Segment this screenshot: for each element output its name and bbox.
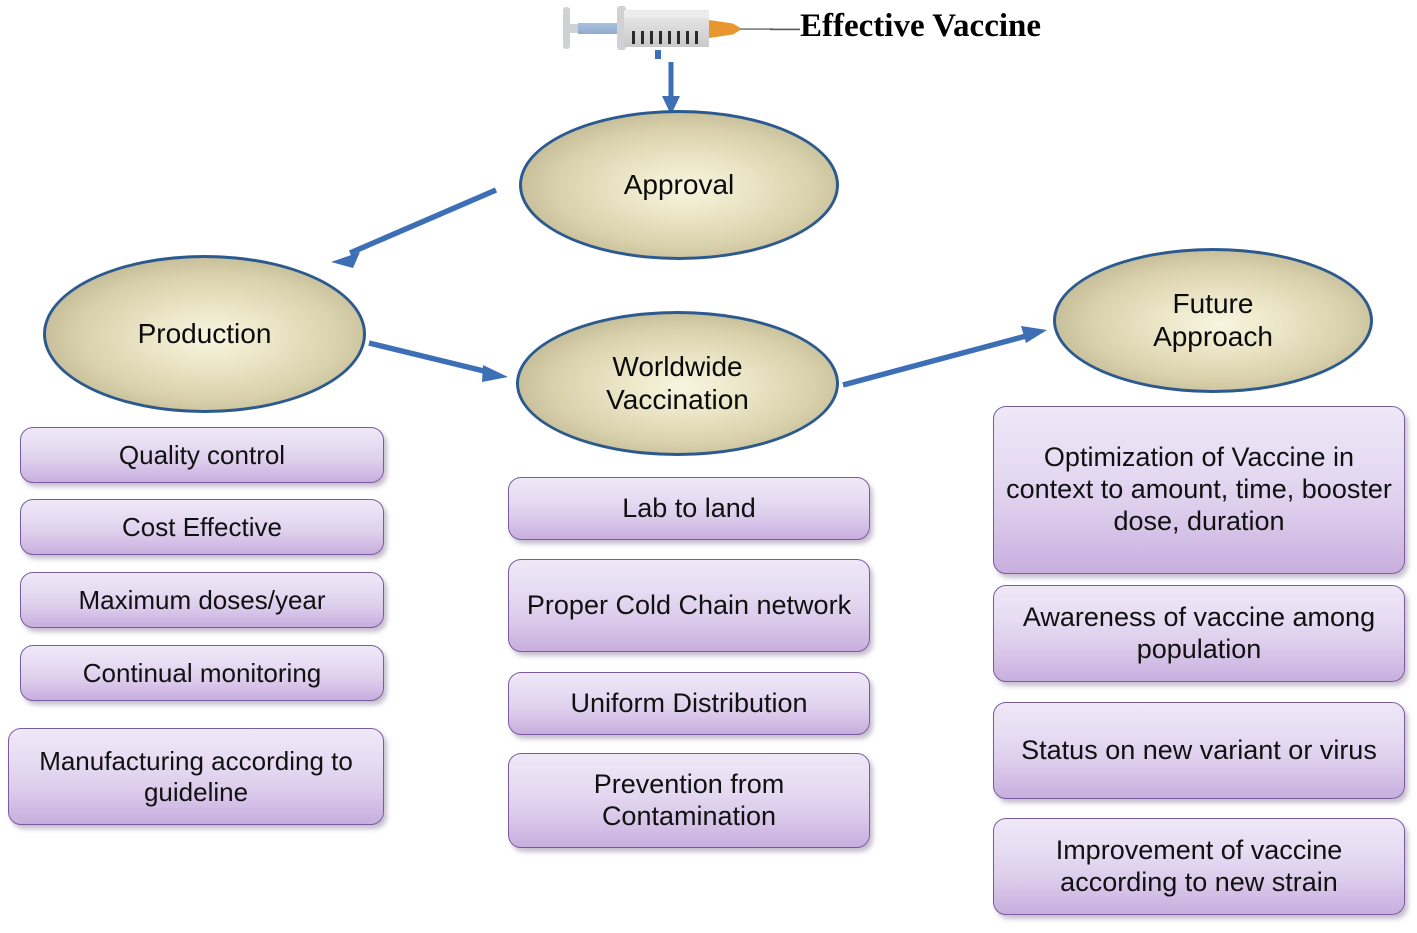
list-item[interactable]: Optimization of Vaccine in context to am…: [993, 406, 1405, 574]
page-title: Effective Vaccine: [800, 8, 1041, 45]
node-worldwide-vaccination-line1: Worldwide: [612, 351, 742, 382]
list-item[interactable]: Continual monitoring: [20, 645, 384, 701]
node-future-approach-line1: Future: [1173, 288, 1254, 319]
list-item-label: Cost Effective: [122, 512, 282, 543]
list-item[interactable]: Uniform Distribution: [508, 672, 870, 735]
list-item-label: Prevention from Contamination: [517, 769, 861, 833]
list-item[interactable]: Awareness of vaccine among population: [993, 585, 1405, 682]
list-item-label: Lab to land: [622, 493, 756, 525]
list-item-label: Maximum doses/year: [78, 585, 325, 616]
node-worldwide-vaccination-line2: Vaccination: [606, 384, 749, 415]
diagram-canvas: Effective Vaccine Approval Production Wo…: [0, 0, 1417, 933]
node-approval[interactable]: Approval: [519, 110, 839, 260]
node-future-approach-label: Future Approach: [1141, 288, 1285, 353]
list-item[interactable]: Maximum doses/year: [20, 572, 384, 628]
list-item[interactable]: Proper Cold Chain network: [508, 559, 870, 652]
list-item[interactable]: Cost Effective: [20, 499, 384, 555]
node-future-approach-line2: Approach: [1153, 321, 1273, 352]
node-approval-label: Approval: [612, 169, 747, 201]
list-item[interactable]: Quality control: [20, 427, 384, 483]
list-item[interactable]: Prevention from Contamination: [508, 753, 870, 848]
list-item-label: Improvement of vaccine according to new …: [1002, 835, 1396, 899]
arrow-syringe-to-approval: [662, 62, 680, 115]
node-future-approach[interactable]: Future Approach: [1053, 248, 1373, 393]
node-production-label: Production: [126, 318, 284, 350]
list-item-label: Proper Cold Chain network: [527, 590, 851, 622]
list-item-label: Quality control: [119, 440, 285, 471]
list-item-label: Optimization of Vaccine in context to am…: [1002, 442, 1396, 538]
arrow-production-to-worldwide-vaccination: [369, 343, 508, 382]
list-item-label: Continual monitoring: [83, 658, 321, 689]
list-item[interactable]: Status on new variant or virus: [993, 702, 1405, 799]
node-worldwide-vaccination[interactable]: Worldwide Vaccination: [516, 311, 839, 456]
node-worldwide-vaccination-label: Worldwide Vaccination: [594, 351, 761, 416]
list-item[interactable]: Manufacturing according to guideline: [8, 728, 384, 825]
list-item[interactable]: Lab to land: [508, 477, 870, 540]
list-item[interactable]: Improvement of vaccine according to new …: [993, 818, 1405, 915]
syringe-icon: [563, 6, 800, 59]
arrow-approval-to-production: [331, 190, 496, 268]
list-item-label: Status on new variant or virus: [1021, 735, 1377, 767]
arrow-worldwide-vaccination-to-future-approach: [843, 326, 1047, 385]
list-item-label: Uniform Distribution: [570, 688, 807, 720]
node-production[interactable]: Production: [43, 255, 366, 413]
list-item-label: Awareness of vaccine among population: [1002, 602, 1396, 666]
list-item-label: Manufacturing according to guideline: [17, 746, 375, 807]
